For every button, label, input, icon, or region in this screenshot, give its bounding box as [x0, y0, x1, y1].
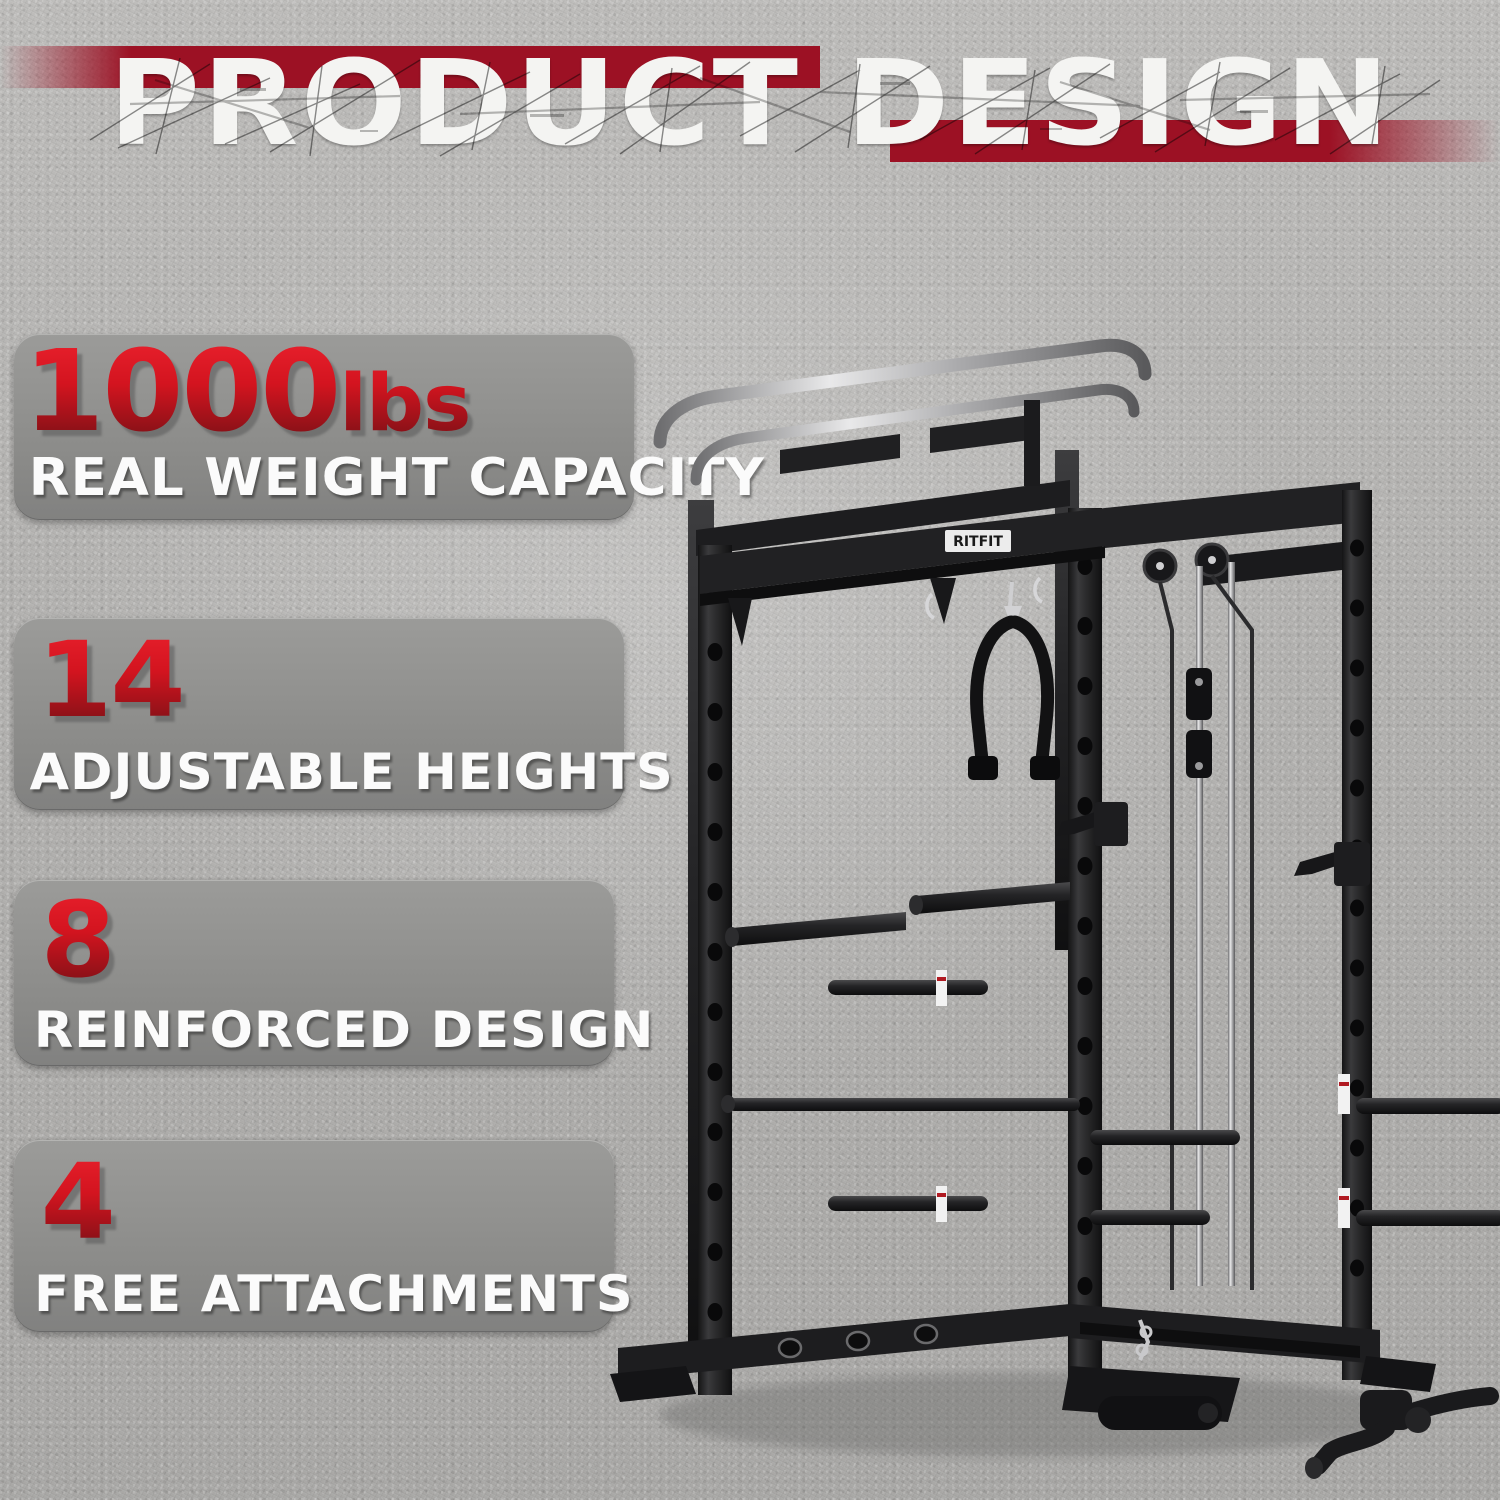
- product-photo-power-rack: RITFIT: [600, 330, 1500, 1500]
- callout-number-2: 8: [41, 888, 114, 1002]
- callout-number-0: 1000lbs: [23, 340, 470, 456]
- page-title: PRODUCT DESIGN: [0, 34, 1500, 172]
- weight-plate-storage-peg-lower: [1356, 1210, 1500, 1226]
- j-hook-group: [1056, 802, 1370, 886]
- weight-plate-storage-peg-center-low: [1090, 1210, 1210, 1225]
- infographic-canvas: PRODUCT DESIGN: [0, 0, 1500, 1500]
- neutral-grip-plate-left: [780, 434, 900, 474]
- safety-spotter-arm-center: [916, 882, 1070, 914]
- callout-label-2: REINFORCED DESIGN: [34, 1004, 654, 1056]
- safety-spotter-arm-group: [725, 882, 1070, 947]
- callout-number-1: 14: [37, 628, 183, 742]
- guide-rod-right: [1228, 562, 1235, 1286]
- callout-number-3: 4: [41, 1150, 114, 1264]
- weight-plate-storage-group: [1090, 1098, 1500, 1226]
- rope-end-cap-left: [968, 756, 998, 780]
- landmine-knob: [1405, 1407, 1431, 1433]
- header-banner: PRODUCT DESIGN: [0, 34, 1500, 174]
- dip-bar-upper: [828, 980, 988, 995]
- brand-label: RITFIT: [953, 534, 1003, 550]
- rope-end-cap-right: [1030, 756, 1060, 780]
- callout-label-1: ADJUSTABLE HEIGHTS: [30, 746, 674, 798]
- tricep-rope-attachment: [968, 582, 1060, 780]
- weight-plate-storage-peg-center: [1090, 1130, 1240, 1145]
- floor-shadow: [660, 1373, 1420, 1457]
- weight-plate-storage-peg-upper: [1356, 1098, 1500, 1114]
- feature-callout-reinforced-design: 8 REINFORCED DESIGN: [14, 880, 614, 1066]
- neutral-grip-plate-right: [930, 415, 1030, 453]
- upright-post-tower-right: [1342, 490, 1372, 1380]
- safety-spotter-arm-left: [732, 912, 906, 946]
- feature-callout-adjustable-heights: 14 ADJUSTABLE HEIGHTS: [14, 618, 624, 810]
- cable-pulley-system: [1144, 544, 1252, 1290]
- cable-front: [1160, 582, 1172, 1290]
- base-foot-right: [1360, 1356, 1436, 1392]
- pull-up-bar-bracket: [1024, 400, 1040, 486]
- dip-bar-group: [721, 980, 1080, 1211]
- feature-callout-weight-capacity: 1000lbs REAL WEIGHT CAPACITY: [14, 334, 634, 520]
- tower-top-beam: [1105, 482, 1360, 548]
- dip-bar-lower: [828, 1196, 988, 1211]
- upright-post-front-left: [698, 545, 732, 1395]
- cross-support-bar: [728, 1098, 1080, 1111]
- feature-callout-free-attachments: 4 FREE ATTACHMENTS: [14, 1140, 614, 1332]
- callout-label-3: FREE ATTACHMENTS: [34, 1268, 634, 1320]
- power-rack-illustration: RITFIT: [600, 330, 1500, 1500]
- upright-post-front-right: [1068, 508, 1102, 1378]
- lat-pulldown-tower: [1105, 482, 1372, 1380]
